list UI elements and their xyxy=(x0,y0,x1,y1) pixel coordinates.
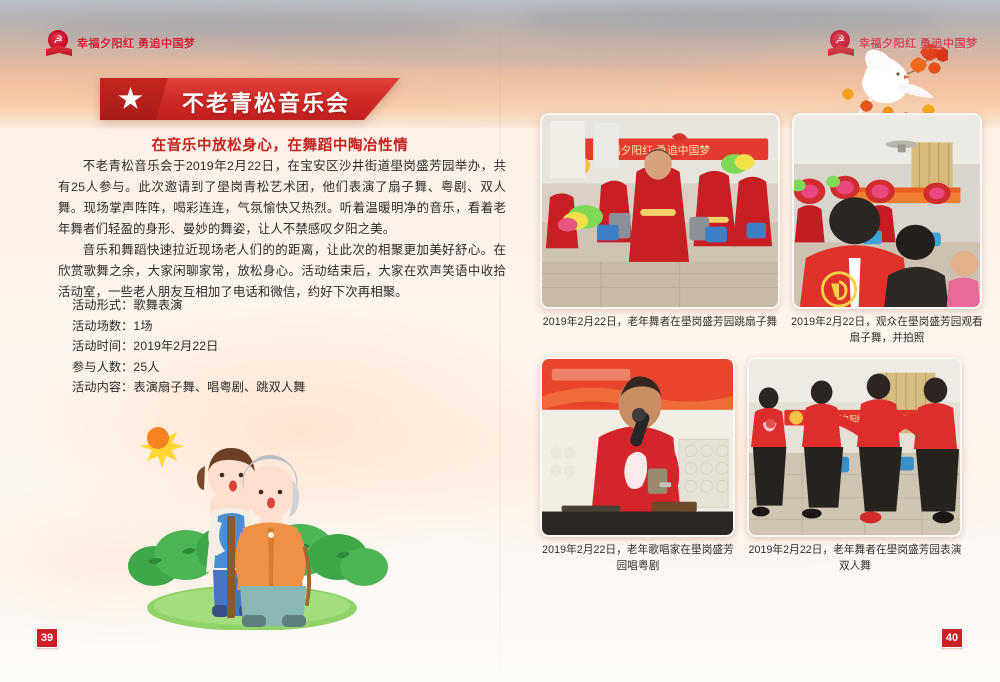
page-title: 不老青松音乐会 xyxy=(182,86,350,118)
article-paragraph: 音乐和舞蹈快速拉近现场老人们的的距离，让此次的相聚更加美好舒心。在欣赏歌舞之余，… xyxy=(58,240,506,303)
photo-caption: 2019年2月22日，观众在壆岗盛芳园观看扇子舞，并拍照 xyxy=(790,314,984,346)
hammer-sickle-glyph: ☭ xyxy=(834,34,846,46)
brand-logo-left: ☭ 幸福夕阳红 勇追中国梦 xyxy=(46,30,196,56)
article-subtitle: 在音乐中放松身心，在舞蹈中陶冶性情 xyxy=(50,134,510,155)
photo-caption: 2019年2月22日，老年歌唱家在壆岗盛芳园唱粤剧 xyxy=(538,542,738,574)
brand-logo-right: ☭ 幸福夕阳红 勇追中国梦 xyxy=(828,30,978,56)
party-emblem-icon: ☭ xyxy=(828,30,854,56)
party-emblem-icon: ☭ xyxy=(46,30,72,56)
elderly-care-illustration xyxy=(100,400,400,630)
photo-caption: 2019年2月22日，老年舞者在壆岗盛芳园跳扇子舞 xyxy=(540,314,780,330)
hammer-sickle-glyph: ☭ xyxy=(52,34,64,46)
detail-row-attendance: 参与人数：25人 xyxy=(72,358,502,378)
photo-caption: 2019年2月22日，老年舞者在壆岗盛芳园表演双人舞 xyxy=(745,542,965,574)
photo-singer[interactable] xyxy=(540,357,735,537)
page-number-right: 40 xyxy=(941,628,963,648)
magazine-spread: ☭ 幸福夕阳红 勇追中国梦 ☭ 幸福夕阳红 勇追中国梦 不老青松音乐会 在音乐中… xyxy=(0,0,1000,682)
activity-detail-list: 活动形式：歌舞表演 活动场数：1场 活动时间：2019年2月22日 参与人数：2… xyxy=(72,296,502,399)
detail-row-form: 活动形式：歌舞表演 xyxy=(72,296,502,316)
cloud-wisp xyxy=(250,44,770,64)
detail-row-sessions: 活动场数：1场 xyxy=(72,317,502,337)
brand-logo-left-text: 幸福夕阳红 勇追中国梦 xyxy=(77,35,196,51)
page-number-left: 39 xyxy=(36,628,58,648)
sun-icon xyxy=(140,426,184,468)
detail-row-date: 活动时间：2019年2月22日 xyxy=(72,337,502,357)
photo-pair-dance[interactable]: 幸福夕阳红 勇追中国梦 xyxy=(747,357,962,537)
photo-audience[interactable] xyxy=(792,113,982,309)
section-title-banner: 不老青松音乐会 xyxy=(100,78,400,120)
article-paragraph: 不老青松音乐会于2019年2月22日，在宝安区沙井街道壆岗盛芳园举办，共有25人… xyxy=(58,156,506,240)
detail-row-content: 活动内容：表演扇子舞、唱粤剧、跳双人舞 xyxy=(72,378,502,398)
brand-logo-right-text: 幸福夕阳红 勇追中国梦 xyxy=(859,35,978,51)
photo-fan-dance[interactable]: 幸福夕阳红 勇追中国梦 xyxy=(540,113,780,309)
